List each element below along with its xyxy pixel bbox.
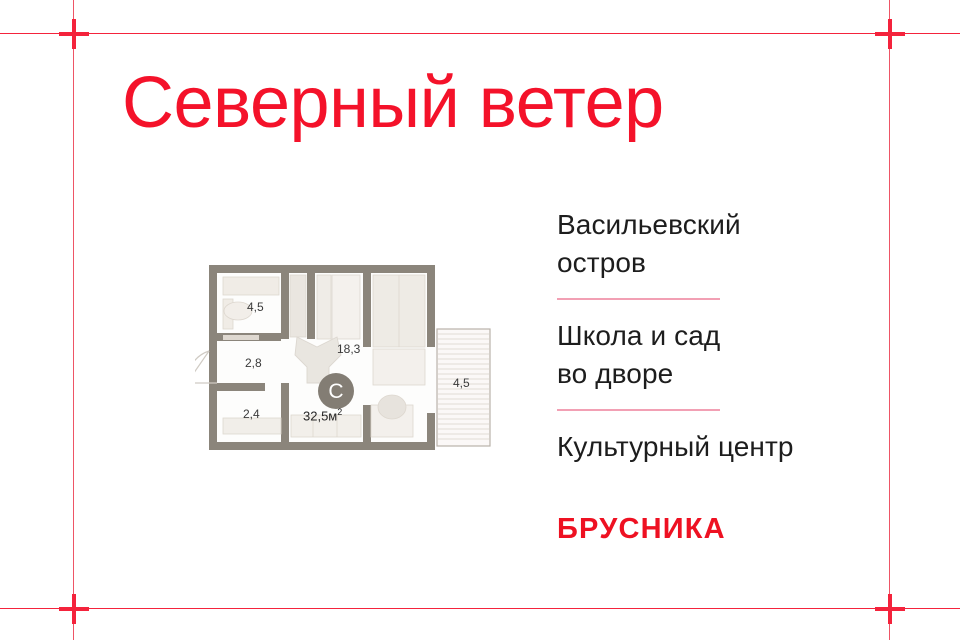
- registration-mark-top-right: [875, 19, 905, 49]
- registration-mark-bottom-left: [59, 594, 89, 624]
- registration-mark-top-left: [59, 19, 89, 49]
- floorplan-drawing: С: [195, 255, 495, 470]
- feature-divider: [557, 409, 720, 411]
- total-area-label: 32,5м2: [303, 407, 342, 423]
- crop-guide-top: [0, 33, 960, 34]
- brand-logo: БРУСНИКА: [557, 513, 726, 546]
- feature-list: Васильевский остров Школа и сад во дворе…: [557, 206, 897, 466]
- unit-letter: С: [328, 380, 343, 403]
- room-area-balcony: 4,5: [453, 376, 470, 390]
- feature-label: Васильевский остров: [557, 206, 897, 282]
- crop-guide-bottom: [0, 608, 960, 609]
- poster-canvas: Северный ветер Васильевский остров Школа…: [0, 0, 960, 640]
- feature-label: Культурный центр: [557, 428, 897, 466]
- room-area-bathroom: 4,5: [247, 300, 264, 314]
- registration-mark-bottom-right: [875, 594, 905, 624]
- floorplan: С 4,5 2,8 18,3 2,4 4,5 32,5м2: [195, 255, 495, 470]
- room-area-hallway: 2,8: [245, 356, 262, 370]
- plan-fixtures-bed: [373, 275, 425, 385]
- feature-label: Школа и сад во дворе: [557, 317, 897, 393]
- room-area-living: 18,3: [337, 342, 360, 356]
- crop-guide-left: [73, 0, 74, 640]
- room-area-storage: 2,4: [243, 407, 260, 421]
- total-area-value: 32,5м: [303, 408, 337, 423]
- feature-item-2: Культурный центр: [557, 428, 897, 466]
- feature-item-0: Васильевский остров: [557, 206, 897, 300]
- total-area-unit: 2: [337, 407, 342, 417]
- plan-fixtures-closets: [290, 275, 360, 339]
- unit-type-badge: С: [318, 373, 354, 409]
- feature-item-1: Школа и сад во дворе: [557, 317, 897, 411]
- feature-divider: [557, 298, 720, 300]
- page-title: Северный ветер: [122, 60, 882, 146]
